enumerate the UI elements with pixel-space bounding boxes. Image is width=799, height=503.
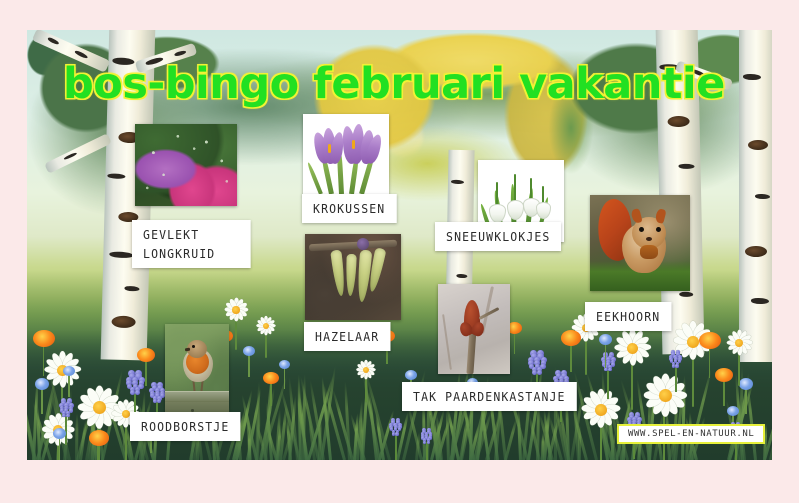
hazel-catkins-photo — [305, 234, 401, 320]
label-roodborstje: ROODBORSTJE — [130, 412, 240, 441]
red-squirrel-photo — [590, 195, 690, 291]
spotted-lungwort-photo — [135, 124, 237, 206]
site-watermark: WWW.SPEL-EN-NATUUR.NL — [617, 424, 765, 444]
bos-bingo-poster: bos-bingo februari vakantie — [27, 30, 772, 460]
canopy-right — [536, 30, 772, 200]
crocus-photo — [303, 114, 389, 196]
horse-chestnut-bud-photo — [438, 284, 510, 374]
birch-tree-right-edge — [739, 30, 772, 362]
page-title: bos-bingo februari vakantie — [63, 59, 725, 109]
label-hazelaar: HAZELAAR — [304, 322, 390, 351]
label-krokussen: KROKUSSEN — [302, 194, 396, 223]
label-eekhoorn: EEKHOORN — [585, 302, 671, 331]
label-gevlekt-longkruid: GEVLEKT LONGKRUID — [132, 220, 251, 268]
screenshot-root: bos-bingo februari vakantie — [0, 0, 799, 503]
label-sneeuwklokjes: SNEEUWKLOKJES — [435, 222, 561, 251]
robin-photo — [165, 324, 229, 416]
label-tak-paardenkastanje: TAK PAARDENKASTANJE — [402, 382, 577, 411]
